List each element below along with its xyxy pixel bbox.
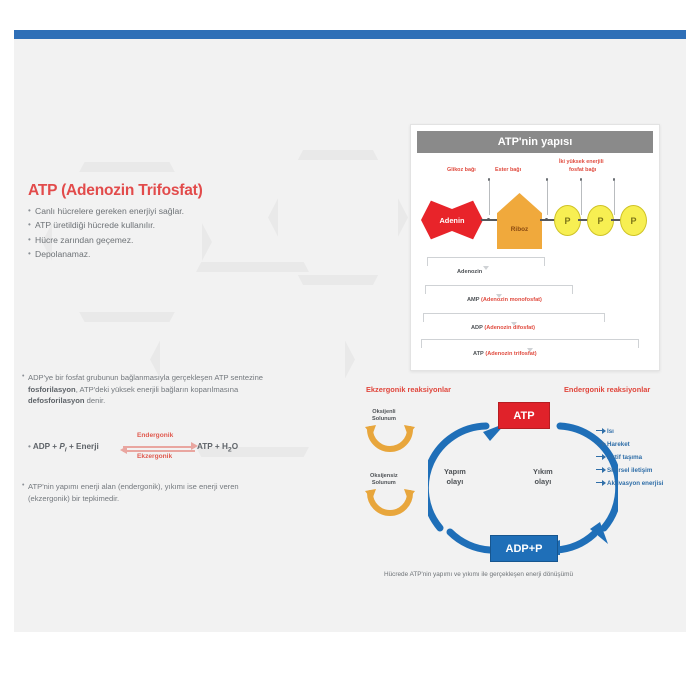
cycle-caption: Hücrede ATP'nin yapımı ve yıkımı ile ger… [384, 571, 573, 578]
tickdot-high-energy-1-icon [580, 178, 583, 181]
atp-key: ATP [473, 351, 484, 357]
bracket-atp [421, 339, 639, 348]
arrow-line-bottom [123, 450, 195, 452]
list-item: Sinirsel iletişim [596, 464, 663, 477]
tick-high-energy-2 [614, 181, 615, 215]
inner-right-line2: olayı [534, 477, 551, 486]
amp-key: AMP [467, 297, 479, 303]
phosphorylation-paragraph: ADP'ye bir fosfat grubunun bağlanmasıyla… [28, 372, 296, 407]
source-arc-1-icon [364, 425, 416, 455]
source-1-line2: Solunum [372, 416, 396, 422]
label-ester-bond: Ester bağı [495, 167, 521, 173]
phosphate-2-label: P [597, 216, 603, 226]
letterbox-right [686, 30, 700, 632]
paragraph-part-1: ADP'ye bir fosfat grubunun bağlanmasıyla… [28, 373, 263, 382]
bracket-adp [423, 313, 605, 322]
molecule-adenine: Adenin [421, 197, 483, 243]
bracket-label-amp: AMP (Adenozin monofosfat) [467, 297, 542, 303]
adp-key: ADP [471, 325, 483, 331]
source-label-1: Oksijenli Solunum [372, 409, 396, 424]
tickdot-high-energy-2-icon [613, 178, 616, 181]
slide-top-accent-bar [14, 30, 686, 39]
atp-structure-card: ATP'nin yapısı Glikoz bağı Ester bağı İk… [410, 124, 660, 371]
inner-left-line1: Yapım [444, 467, 466, 476]
letterbox-left [0, 30, 14, 632]
source-label-2: Oksijensiz Solunum [370, 473, 398, 488]
phosphate-3-label: P [630, 216, 636, 226]
source-2-line1: Oksijensiz [370, 473, 398, 479]
slide-canvas: ATP (Adenozin Trifosfat) Canlı hücrelere… [0, 0, 700, 700]
list-item: Hareket [596, 438, 663, 451]
equation-right-side: ATP + H2O [197, 442, 238, 454]
structure-diagram: Glikoz bağı Ester bağı İki yüksek enerji… [411, 153, 659, 370]
equation-double-arrow: Endergonik Ekzergonik [121, 432, 197, 462]
list-item: Aktif taşıma [596, 451, 663, 464]
cycle-atp-label: ATP [513, 410, 534, 422]
tickdot-ester-icon [546, 178, 549, 181]
molecule-phosphate-2: P [587, 205, 614, 236]
arrow-line-top [123, 446, 195, 448]
equation-bottom-label: Ekzergonik [137, 453, 172, 460]
bracket-adenosine [427, 257, 545, 266]
atp-facts-list: Canlı hücrelere gereken enerjiyi sağlar.… [28, 205, 243, 263]
atp-name: (Adenozin trifosfat) [485, 351, 536, 357]
letterbox-top [0, 0, 700, 30]
label-high-energy-bond-line1: İki yüksek enerjili [559, 159, 604, 165]
list-item: Depolanamaz. [28, 248, 243, 261]
adp-name: (Adenozin difosfat) [484, 325, 535, 331]
amp-name: (Adenozin monofosfat) [481, 297, 542, 303]
letterbox-bottom [0, 632, 700, 700]
cycle-atp-box: ATP [498, 402, 550, 429]
list-item: ATP üretildiği hücrede kullanılır. [28, 219, 243, 232]
arrow-head-left-icon [120, 446, 127, 454]
paragraph-part-2: , ATP'deki yüksek enerjili bağların kopa… [76, 385, 239, 394]
term-fosforilasyon: fosforilasyon [28, 385, 76, 394]
atp-equation: • ADP + Pi + Enerji Endergonik Ekzergoni… [22, 432, 262, 462]
cycle-inner-right-label: Yıkım olayı [533, 467, 553, 487]
bracket-label-atp: ATP (Adenozin trifosfat) [473, 351, 537, 357]
label-glycosidic-bond: Glikoz bağı [447, 167, 476, 173]
cycle-output-list: Isı Hareket Aktif taşıma Sinirsel iletiş… [596, 425, 663, 490]
tick-high-energy-1 [581, 181, 582, 215]
ribose-label: Riboz [511, 226, 528, 249]
phosphate-1-label: P [564, 216, 570, 226]
source-1-line1: Oksijenli [372, 409, 395, 415]
term-defosforilasyon: defosforilasyon [28, 396, 85, 405]
adenine-label: Adenin [439, 216, 464, 225]
molecule-phosphate-3: P [620, 205, 647, 236]
structure-card-title: ATP'nin yapısı [417, 131, 653, 153]
equation-top-label: Endergonik [137, 432, 173, 439]
inner-right-line1: Yıkım [533, 467, 553, 476]
equation-left-side: • ADP + Pi + Enerji [28, 442, 99, 454]
tickdot-glycosidic-icon [488, 178, 491, 181]
list-item: Canlı hücrelere gereken enerjiyi sağlar. [28, 205, 243, 218]
source-arc-2-icon [364, 489, 416, 519]
list-item: Hücre zarından geçemez. [28, 234, 243, 247]
atp-cycle-diagram: Ekzergonik reaksiyonlar Endergonik reaks… [358, 385, 662, 590]
cycle-left-title: Ekzergonik reaksiyonlar [366, 385, 451, 394]
page-title: ATP (Adenozin Trifosfat) [28, 182, 203, 200]
cycle-inner-left-label: Yapım olayı [444, 467, 466, 487]
tick-glycosidic [489, 181, 490, 215]
cycle-adp-box: ADP+P [490, 535, 558, 562]
bracket-amp [425, 285, 573, 294]
list-item: Isı [596, 425, 663, 438]
endergonic-exergonic-paragraph: ATP'nin yapımı enerji alan (endergonik),… [28, 481, 263, 504]
tick-ester [547, 181, 548, 215]
list-item: Aktivasyon enerjisi [596, 477, 663, 490]
cycle-adp-label: ADP+P [506, 543, 543, 555]
bracket-label-adenosine: Adenozin [457, 269, 482, 275]
source-2-line2: Solunum [372, 480, 396, 486]
label-high-energy-bond-line2: fosfat bağı [569, 167, 596, 173]
paragraph-part-3: denir. [85, 396, 106, 405]
inner-left-line2: olayı [446, 477, 463, 486]
molecule-phosphate-1: P [554, 205, 581, 236]
bracket-label-adp: ADP (Adenozin difosfat) [471, 325, 535, 331]
molecule-ribose: Riboz [497, 193, 542, 249]
cycle-right-title: Endergonik reaksiyonlar [564, 385, 650, 394]
